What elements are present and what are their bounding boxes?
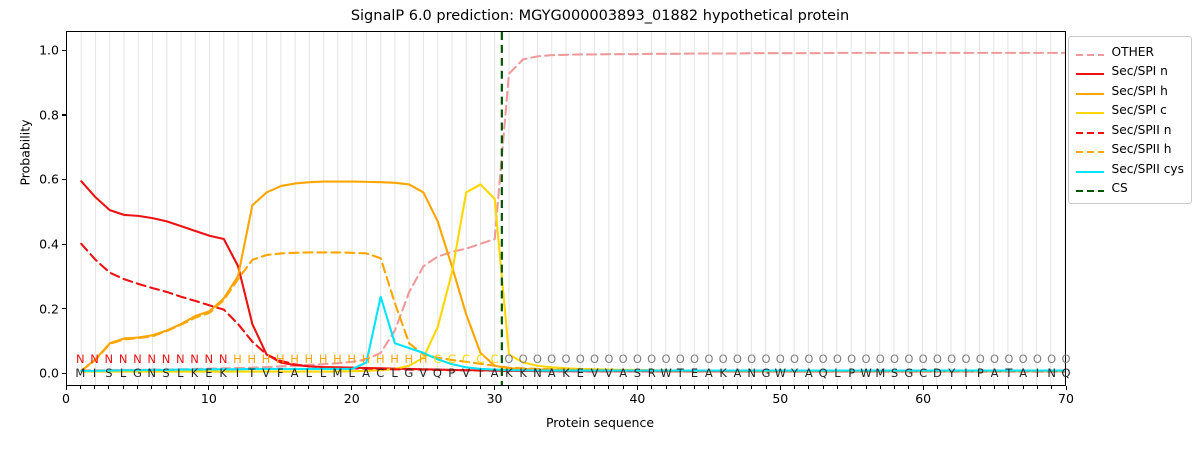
x-tick-minor	[366, 386, 367, 389]
x-tick-minor	[451, 386, 452, 389]
x-tick-minor	[151, 386, 152, 389]
x-tick-minor	[837, 386, 838, 389]
x-tick-minor	[737, 386, 738, 389]
y-tick-0.2: 0.2	[19, 301, 59, 316]
legend-label: CS	[1112, 181, 1128, 195]
legend-item-other[interactable]: OTHER	[1075, 42, 1184, 62]
legend-label: Sec/SPII cys	[1112, 162, 1184, 176]
x-tick-minor	[966, 386, 967, 389]
x-tick-minor	[166, 386, 167, 389]
sequence-residue-row: MISLGNSLKEKITVFALLMLACLGVQPVIAKKNAKEVVAS…	[66, 366, 1066, 381]
chart-legend[interactable]: OTHERSec/SPI nSec/SPI hSec/SPI cSec/SPII…	[1068, 36, 1192, 204]
y-tick-0.8: 0.8	[19, 107, 59, 122]
x-tick-minor	[408, 386, 409, 389]
residue-letter: Q	[1058, 366, 1074, 381]
x-tick-minor	[223, 386, 224, 389]
x-tick-60: 60	[903, 391, 943, 406]
legend-swatch-icon	[1075, 85, 1105, 97]
x-tick-minor	[880, 386, 881, 389]
x-tick-minor	[694, 386, 695, 389]
plot-area	[66, 31, 1066, 386]
x-tick-mark	[637, 386, 638, 390]
y-tick-0.4: 0.4	[19, 237, 59, 252]
x-tick-20: 20	[332, 391, 372, 406]
x-axis-label: Protein sequence	[0, 415, 1200, 430]
x-tick-minor	[994, 386, 995, 389]
x-tick-minor	[394, 386, 395, 389]
legend-item-sec-spii-cys[interactable]: Sec/SPII cys	[1075, 159, 1184, 179]
sequence-region-row: NNNNNNNNNNNHHHHHHHHHHHHHHCCCCCOOOOOOOOOO…	[66, 352, 1066, 367]
legend-item-cs[interactable]: CS	[1075, 179, 1184, 199]
page-title: SignalP 6.0 prediction: MGYG000003893_01…	[0, 8, 1200, 24]
x-tick-minor	[266, 386, 267, 389]
x-tick-minor	[123, 386, 124, 389]
x-tick-minor	[866, 386, 867, 389]
x-tick-minor	[308, 386, 309, 389]
legend-label: Sec/SPII h	[1112, 142, 1172, 156]
x-tick-40: 40	[617, 391, 657, 406]
legend-item-sec-spii-n[interactable]: Sec/SPII n	[1075, 120, 1184, 140]
x-tick-minor	[766, 386, 767, 389]
legend-swatch-icon	[1075, 124, 1105, 136]
legend-label: Sec/SPI c	[1112, 103, 1167, 117]
x-tick-mark	[923, 386, 924, 390]
x-tick-minor	[508, 386, 509, 389]
x-tick-minor	[437, 386, 438, 389]
x-tick-minor	[194, 386, 195, 389]
x-tick-mark	[351, 386, 352, 390]
x-tick-minor	[237, 386, 238, 389]
x-tick-minor	[523, 386, 524, 389]
x-tick-mark	[208, 386, 209, 390]
x-tick-minor	[980, 386, 981, 389]
x-tick-minor	[466, 386, 467, 389]
x-tick-minor	[708, 386, 709, 389]
legend-label: Sec/SPII n	[1112, 123, 1172, 137]
series-sec-spi-h	[81, 182, 1065, 372]
x-tick-minor	[108, 386, 109, 389]
x-tick-minor	[666, 386, 667, 389]
legend-swatch-icon	[1075, 65, 1105, 77]
x-tick-minor	[280, 386, 281, 389]
x-tick-minor	[323, 386, 324, 389]
legend-label: OTHER	[1112, 45, 1154, 59]
y-tick-1.0: 1.0	[19, 43, 59, 58]
x-tick-minor	[580, 386, 581, 389]
x-tick-minor	[94, 386, 95, 389]
x-tick-minor	[851, 386, 852, 389]
x-tick-0: 0	[46, 391, 86, 406]
x-tick-minor	[623, 386, 624, 389]
x-tick-mark	[66, 386, 67, 390]
legend-item-sec-spi-c[interactable]: Sec/SPI c	[1075, 101, 1184, 121]
legend-item-sec-spii-h[interactable]: Sec/SPII h	[1075, 140, 1184, 160]
x-tick-minor	[808, 386, 809, 389]
x-tick-minor	[823, 386, 824, 389]
series-sec-spi-c	[81, 184, 1065, 371]
x-tick-minor	[908, 386, 909, 389]
y-tick-0.6: 0.6	[19, 172, 59, 187]
region-marker: O	[1058, 352, 1074, 367]
legend-swatch-icon	[1075, 46, 1105, 58]
x-tick-10: 10	[189, 391, 229, 406]
series-curves	[67, 32, 1065, 385]
signalp-prediction-figure: SignalP 6.0 prediction: MGYG000003893_01…	[0, 0, 1200, 450]
legend-item-sec-spi-n[interactable]: Sec/SPI n	[1075, 62, 1184, 82]
legend-swatch-icon	[1075, 182, 1105, 194]
x-tick-minor	[894, 386, 895, 389]
x-tick-minor	[1023, 386, 1024, 389]
x-tick-mark	[780, 386, 781, 390]
x-tick-minor	[1008, 386, 1009, 389]
series-other	[81, 53, 1065, 370]
x-tick-minor	[337, 386, 338, 389]
legend-swatch-icon	[1075, 104, 1105, 116]
x-tick-mark	[494, 386, 495, 390]
x-tick-minor	[551, 386, 552, 389]
x-tick-minor	[751, 386, 752, 389]
x-tick-minor	[566, 386, 567, 389]
x-tick-minor	[294, 386, 295, 389]
x-tick-minor	[251, 386, 252, 389]
x-tick-minor	[937, 386, 938, 389]
x-tick-minor	[137, 386, 138, 389]
x-tick-30: 30	[475, 391, 515, 406]
series-sec-spi-n	[81, 181, 1065, 371]
x-tick-mark	[1066, 386, 1067, 390]
x-tick-minor	[80, 386, 81, 389]
x-tick-minor	[951, 386, 952, 389]
legend-swatch-icon	[1075, 143, 1105, 155]
x-tick-minor	[794, 386, 795, 389]
x-tick-minor	[423, 386, 424, 389]
legend-label: Sec/SPI h	[1112, 84, 1168, 98]
legend-label: Sec/SPI n	[1112, 64, 1168, 78]
x-tick-minor	[680, 386, 681, 389]
x-tick-minor	[723, 386, 724, 389]
x-tick-minor	[480, 386, 481, 389]
x-tick-50: 50	[760, 391, 800, 406]
x-tick-70: 70	[1046, 391, 1086, 406]
x-tick-minor	[537, 386, 538, 389]
legend-swatch-icon	[1075, 163, 1105, 175]
x-tick-minor	[608, 386, 609, 389]
legend-item-sec-spi-h[interactable]: Sec/SPI h	[1075, 81, 1184, 101]
x-tick-minor	[651, 386, 652, 389]
x-tick-minor	[1051, 386, 1052, 389]
x-tick-minor	[180, 386, 181, 389]
x-tick-minor	[380, 386, 381, 389]
x-tick-minor	[1037, 386, 1038, 389]
y-tick-0.0: 0.0	[19, 366, 59, 381]
x-tick-minor	[594, 386, 595, 389]
